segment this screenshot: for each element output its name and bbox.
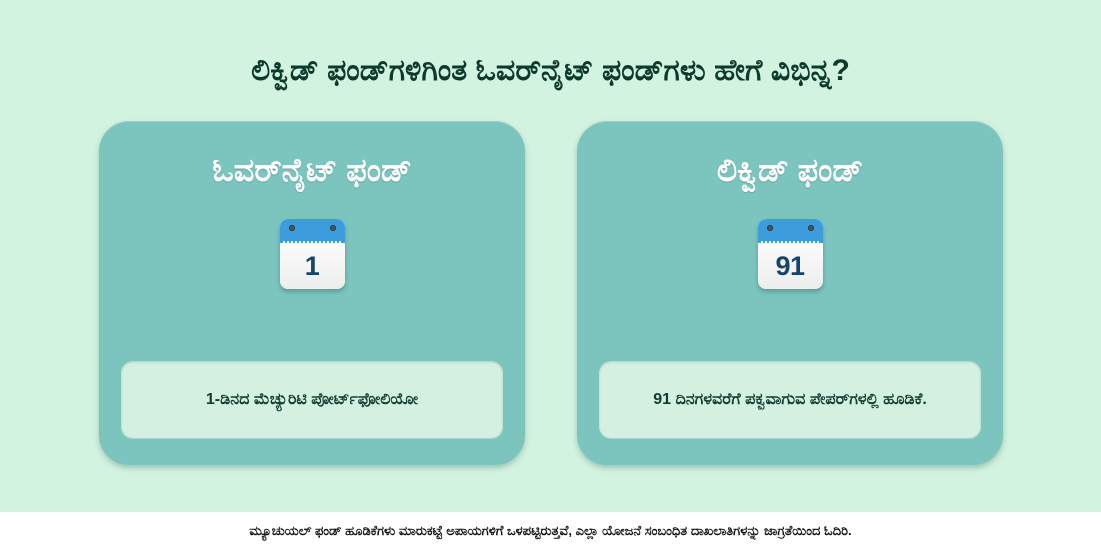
calendar-ring-right-icon — [330, 225, 336, 231]
calendar-icon: 91 — [758, 219, 823, 289]
calendar-day-number: 91 — [775, 253, 804, 280]
calendar-ring-left-icon — [767, 225, 773, 231]
page-title: ಲಿಕ್ವಿಡ್ ಫಂಡ್‌ಗಳಿಗಿಂತ ಓವರ್‌ನೈಟ್ ಫಂಡ್‌ಗಳು… — [0, 52, 1101, 90]
calendar-wrap-overnight: 1 — [280, 219, 345, 289]
calendar-header — [758, 219, 823, 243]
card-title-liquid-fund: ಲಿಕ್ವಿಡ್ ಫಂಡ್ — [717, 151, 863, 189]
comparison-cards-row: ಓವರ್‌ನೈಟ್ ಫಂಡ್ 1 1-ಡಿನದ ಮೆಚ್ಯುರಿಟಿ ಪೋರ್ಟ… — [99, 121, 1003, 465]
card-overnight-fund: ಓವರ್‌ನೈಟ್ ಫಂಡ್ 1 1-ಡಿನದ ಮೆಚ್ಯುರಿಟಿ ಪೋರ್ಟ… — [99, 121, 525, 465]
calendar-icon: 1 — [280, 219, 345, 289]
card-liquid-fund: ಲಿಕ್ವಿಡ್ ಫಂಡ್ 91 91 ದಿನಗಳವರೆಗೆ ಪಕ್ವವಾಗುವ… — [577, 121, 1003, 465]
calendar-body: 91 — [758, 243, 823, 289]
note-box-overnight-fund: 1-ಡಿನದ ಮೆಚ್ಯುರಿಟಿ ಪೋರ್ಟ್‌ಫೋಲಿಯೋ — [121, 361, 503, 438]
calendar-perforation — [761, 241, 820, 243]
disclaimer-text: ಮ್ಯೂಚುಯಲ್ ಫಂಡ್ ಹೂಡಿಕೆಗಳು ಮಾರುಕಟ್ಟೆ ಅಪಾಯಗ… — [249, 523, 851, 539]
calendar-perforation — [283, 241, 342, 243]
disclaimer-bar: ಮ್ಯೂಚುಯಲ್ ಫಂಡ್ ಹೂಡಿಕೆಗಳು ಮಾರುಕಟ್ಟೆ ಅಪಾಯಗ… — [0, 512, 1101, 550]
note-text-liquid-fund: 91 ದಿನಗಳವರೆಗೆ ಪಕ್ವವಾಗುವ ಪೇಪರ್‌ಗಳಲ್ಲಿ ಹೂಡ… — [653, 388, 927, 411]
calendar-body: 1 — [280, 243, 345, 289]
calendar-ring-right-icon — [808, 225, 814, 231]
card-title-overnight-fund: ಓವರ್‌ನೈಟ್ ಫಂಡ್ — [212, 151, 411, 189]
calendar-wrap-liquid: 91 — [758, 219, 823, 289]
calendar-day-number: 1 — [305, 253, 320, 280]
note-box-liquid-fund: 91 ದಿನಗಳವರೆಗೆ ಪಕ್ವವಾಗುವ ಪೇಪರ್‌ಗಳಲ್ಲಿ ಹೂಡ… — [599, 361, 981, 438]
note-text-overnight-fund: 1-ಡಿನದ ಮೆಚ್ಯುರಿಟಿ ಪೋರ್ಟ್‌ಫೋಲಿಯೋ — [206, 388, 418, 411]
calendar-header — [280, 219, 345, 243]
infographic-poster: ಲಿಕ್ವಿಡ್ ಫಂಡ್‌ಗಳಿಗಿಂತ ಓವರ್‌ನೈಟ್ ಫಂಡ್‌ಗಳು… — [0, 0, 1101, 550]
calendar-ring-left-icon — [289, 225, 295, 231]
